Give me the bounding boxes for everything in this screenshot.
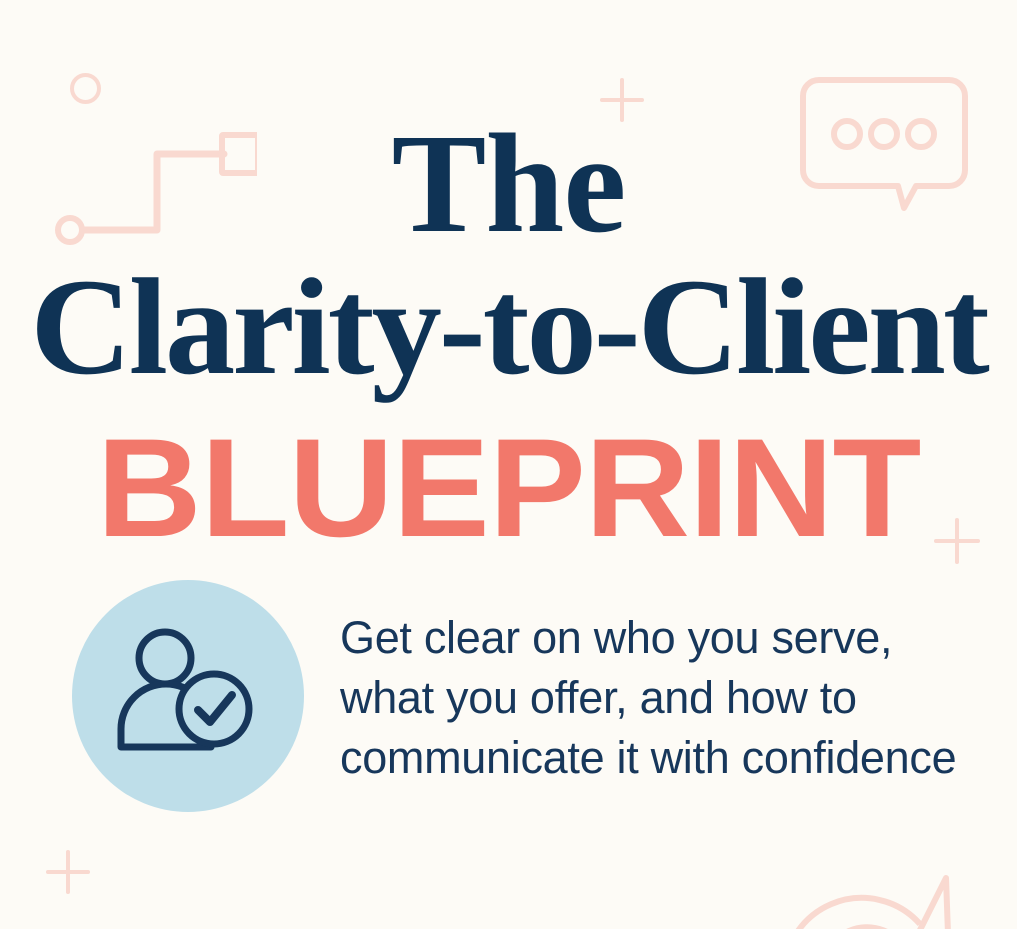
subtitle-line-3: communicate it with confidence xyxy=(340,728,1002,788)
title-line-clarity-to-client: Clarity-to-Client xyxy=(0,258,1017,396)
title-line-the: The xyxy=(0,112,1017,254)
user-check-icon xyxy=(113,625,263,768)
plus-icon xyxy=(46,850,90,894)
subtitle-row: Get clear on who you serve, what you off… xyxy=(72,580,1002,812)
subtitle-text: Get clear on who you serve, what you off… xyxy=(340,604,1002,788)
title-line-blueprint: BLUEPRINT xyxy=(0,418,1017,558)
small-circle-icon xyxy=(70,73,101,104)
subtitle-line-2: what you offer, and how to xyxy=(340,668,1002,728)
subtitle-line-1: Get clear on who you serve, xyxy=(340,608,1002,668)
target-arrow-icon xyxy=(780,862,1017,929)
poster-canvas: The Clarity-to-Client BLUEPRINT Get clea… xyxy=(0,0,1017,929)
icon-badge xyxy=(72,580,304,812)
